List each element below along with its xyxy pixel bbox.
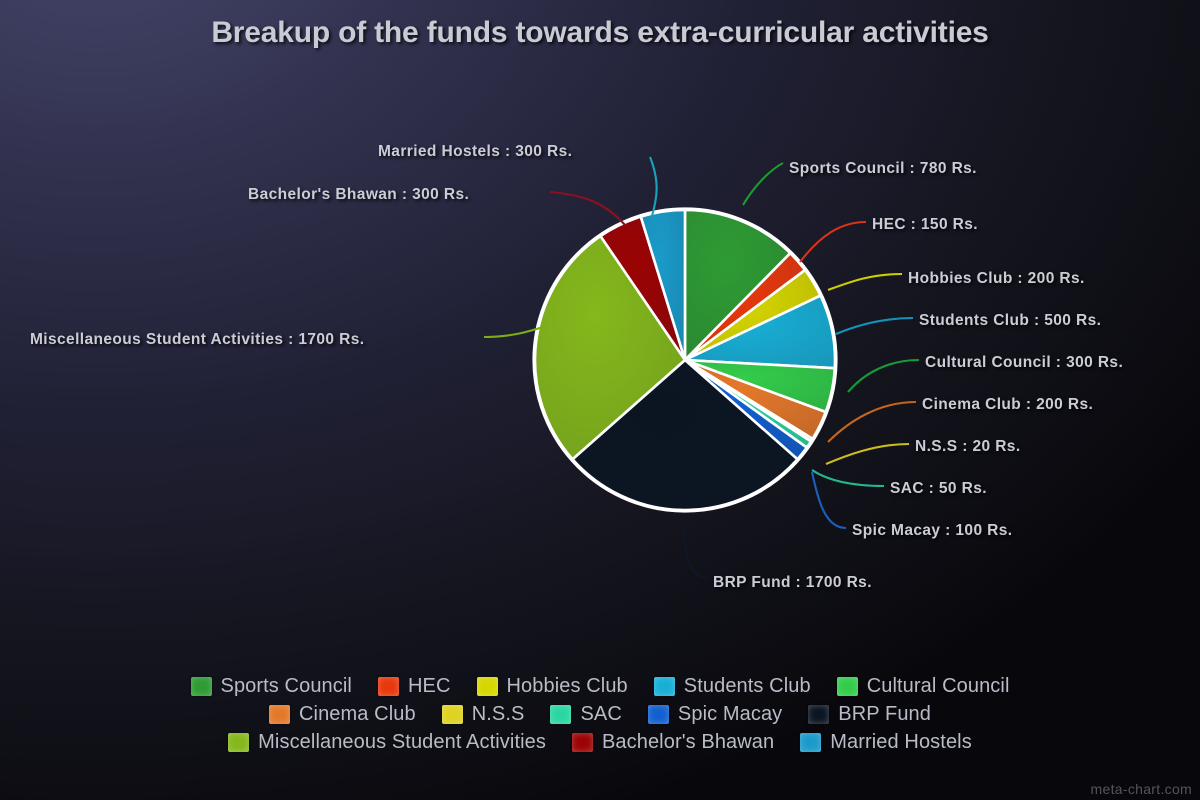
callout-line-cinema-club	[828, 402, 916, 442]
legend-item-cinema-club[interactable]: Cinema Club	[269, 700, 416, 728]
callout-line-hec	[800, 222, 866, 262]
callout-label-hobbies-club: Hobbies Club : 200 Rs.	[908, 270, 1085, 288]
legend-item-n-s-s[interactable]: N.S.S	[442, 700, 525, 728]
legend-item-sac[interactable]: SAC	[550, 700, 621, 728]
callout-line-students-club	[836, 318, 913, 334]
legend-row: Cinema ClubN.S.SSACSpic MacayBRP Fund	[60, 700, 1140, 728]
callout-line-brp-fund	[684, 520, 708, 578]
legend-row: Miscellaneous Student ActivitiesBachelor…	[60, 728, 1140, 756]
callout-label-cultural-council: Cultural Council : 300 Rs.	[925, 354, 1123, 372]
watermark: meta-chart.com	[1091, 781, 1192, 797]
legend-swatch-icon	[228, 733, 249, 752]
callout-line-married-hostels	[650, 157, 657, 216]
legend-label: BRP Fund	[838, 703, 931, 726]
legend-label: Cultural Council	[867, 675, 1010, 698]
callout-label-sports-council: Sports Council : 780 Rs.	[789, 160, 977, 178]
legend-item-hec[interactable]: HEC	[378, 672, 451, 700]
legend-label: Students Club	[684, 675, 811, 698]
legend-label: Bachelor's Bhawan	[602, 731, 774, 754]
callout-line-sports-council	[743, 163, 783, 205]
pie-slices: Sports Council : 780 Rs.HEC : 150 Rs.Hob…	[535, 210, 835, 510]
chart-legend: Sports CouncilHECHobbies ClubStudents Cl…	[0, 672, 1200, 756]
legend-swatch-icon	[808, 705, 829, 724]
legend-swatch-icon	[837, 677, 858, 696]
legend-label: Cinema Club	[299, 703, 416, 726]
callout-label-hec: HEC : 150 Rs.	[872, 216, 978, 234]
legend-item-cultural-council[interactable]: Cultural Council	[837, 672, 1010, 700]
legend-swatch-icon	[572, 733, 593, 752]
callout-label-married-hostels: Married Hostels : 300 Rs.	[378, 143, 572, 161]
legend-swatch-icon	[269, 705, 290, 724]
legend-item-hobbies-club[interactable]: Hobbies Club	[477, 672, 628, 700]
legend-label: Hobbies Club	[507, 675, 628, 698]
callout-label-students-club: Students Club : 500 Rs.	[919, 312, 1101, 330]
callout-label-cinema-club: Cinema Club : 200 Rs.	[922, 396, 1093, 414]
legend-item-miscellaneous-student-activities[interactable]: Miscellaneous Student Activities	[228, 728, 546, 756]
callout-line-hobbies-club	[828, 274, 902, 290]
legend-swatch-icon	[442, 705, 463, 724]
legend-item-students-club[interactable]: Students Club	[654, 672, 811, 700]
callout-line-sac	[812, 470, 884, 486]
callout-line-spic-macay	[812, 472, 846, 528]
legend-item-spic-macay[interactable]: Spic Macay	[648, 700, 782, 728]
callout-label-nss: N.S.S : 20 Rs.	[915, 438, 1021, 456]
legend-item-bachelor-s-bhawan[interactable]: Bachelor's Bhawan	[572, 728, 774, 756]
legend-swatch-icon	[477, 677, 498, 696]
legend-swatch-icon	[654, 677, 675, 696]
callout-line-bachelors-bhawan	[550, 192, 625, 225]
legend-label: Married Hostels	[830, 731, 972, 754]
legend-swatch-icon	[800, 733, 821, 752]
legend-swatch-icon	[191, 677, 212, 696]
callout-label-misc-activities: Miscellaneous Student Activities : 1700 …	[30, 331, 364, 349]
callout-label-sac: SAC : 50 Rs.	[890, 480, 987, 498]
chart-canvas: Breakup of the funds towards extra-curri…	[0, 0, 1200, 800]
callout-line-cultural-council	[848, 360, 919, 392]
legend-label: Sports Council	[221, 675, 352, 698]
legend-item-brp-fund[interactable]: BRP Fund	[808, 700, 931, 728]
callout-line-nss	[826, 444, 909, 464]
legend-label: N.S.S	[472, 703, 525, 726]
legend-swatch-icon	[550, 705, 571, 724]
legend-label: SAC	[580, 703, 621, 726]
callout-label-brp-fund: BRP Fund : 1700 Rs.	[713, 574, 872, 592]
legend-item-married-hostels[interactable]: Married Hostels	[800, 728, 972, 756]
legend-swatch-icon	[378, 677, 399, 696]
legend-label: Spic Macay	[678, 703, 782, 726]
legend-label: Miscellaneous Student Activities	[258, 731, 546, 754]
legend-label: HEC	[408, 675, 451, 698]
legend-swatch-icon	[648, 705, 669, 724]
callout-label-bachelors-bhawan: Bachelor's Bhawan : 300 Rs.	[248, 186, 469, 204]
legend-item-sports-council[interactable]: Sports Council	[191, 672, 352, 700]
legend-row: Sports CouncilHECHobbies ClubStudents Cl…	[60, 672, 1140, 700]
callout-label-spic-macay: Spic Macay : 100 Rs.	[852, 522, 1013, 540]
